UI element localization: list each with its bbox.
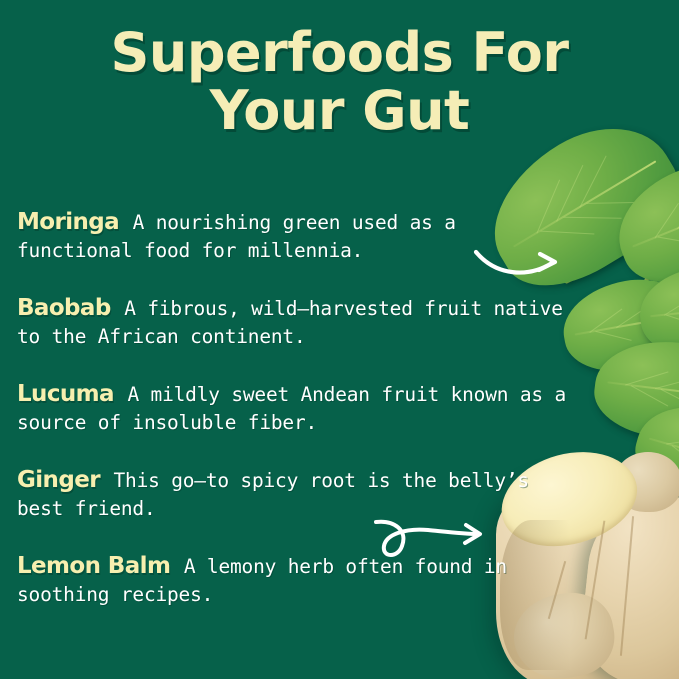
entry-description-lucuma: Lucuma A mildly sweet Andean fruit known… bbox=[17, 380, 577, 438]
entry-name-ginger: Ginger bbox=[17, 467, 102, 493]
leaflet-lower-left bbox=[590, 333, 679, 447]
leaflet-bottom-right bbox=[626, 391, 679, 516]
leaf-stem-main bbox=[604, 293, 679, 304]
entry-description-baobab: Baobab A fibrous, wild–harvested fruit n… bbox=[17, 294, 577, 352]
ginger-surface-line-2 bbox=[620, 516, 634, 656]
leaf-veins bbox=[602, 146, 679, 300]
leaf-stem-branch-3 bbox=[625, 271, 652, 317]
entry-description-moringa: Moringa A nourishing green used as a fun… bbox=[17, 208, 577, 266]
list-item: Baobab A fibrous, wild–harvested fruit n… bbox=[17, 294, 577, 352]
entry-name-lucuma: Lucuma bbox=[17, 381, 116, 407]
page-title: Superfoods For Your Gut bbox=[0, 24, 679, 140]
list-item: Lucuma A mildly sweet Andean fruit known… bbox=[17, 380, 577, 438]
ginger-right-lobe bbox=[576, 489, 679, 679]
list-item: Lemon Balm A lemony herb often found in … bbox=[17, 552, 577, 610]
leaf-veins bbox=[590, 333, 679, 447]
superfoods-poster: Superfoods For Your Gut Moringa A nouris… bbox=[0, 0, 679, 679]
entry-description-lemon-balm: Lemon Balm A lemony herb often found in … bbox=[17, 552, 577, 610]
list-item: Ginger This go–to spicy root is the bell… bbox=[17, 466, 577, 524]
list-item: Moringa A nourishing green used as a fun… bbox=[17, 208, 577, 266]
entry-name-moringa: Moringa bbox=[17, 209, 121, 235]
superfood-list: Moringa A nourishing green used as a fun… bbox=[17, 188, 577, 629]
leaf-veins bbox=[626, 391, 679, 516]
leaflet-right bbox=[636, 262, 679, 360]
leaf-veins bbox=[636, 262, 679, 360]
entry-description-ginger: Ginger This go–to spicy root is the bell… bbox=[17, 466, 577, 524]
title-line-2: Your Gut bbox=[0, 82, 679, 140]
ginger-surface-line-1 bbox=[585, 521, 606, 640]
entry-name-lemon-balm: Lemon Balm bbox=[17, 553, 172, 579]
leaf-stem-branch-2 bbox=[602, 288, 654, 316]
title-line-1: Superfoods For bbox=[0, 24, 679, 82]
leaflet-upper-right bbox=[602, 146, 679, 300]
ginger-top-nub bbox=[614, 452, 679, 512]
entry-name-baobab: Baobab bbox=[17, 295, 113, 321]
